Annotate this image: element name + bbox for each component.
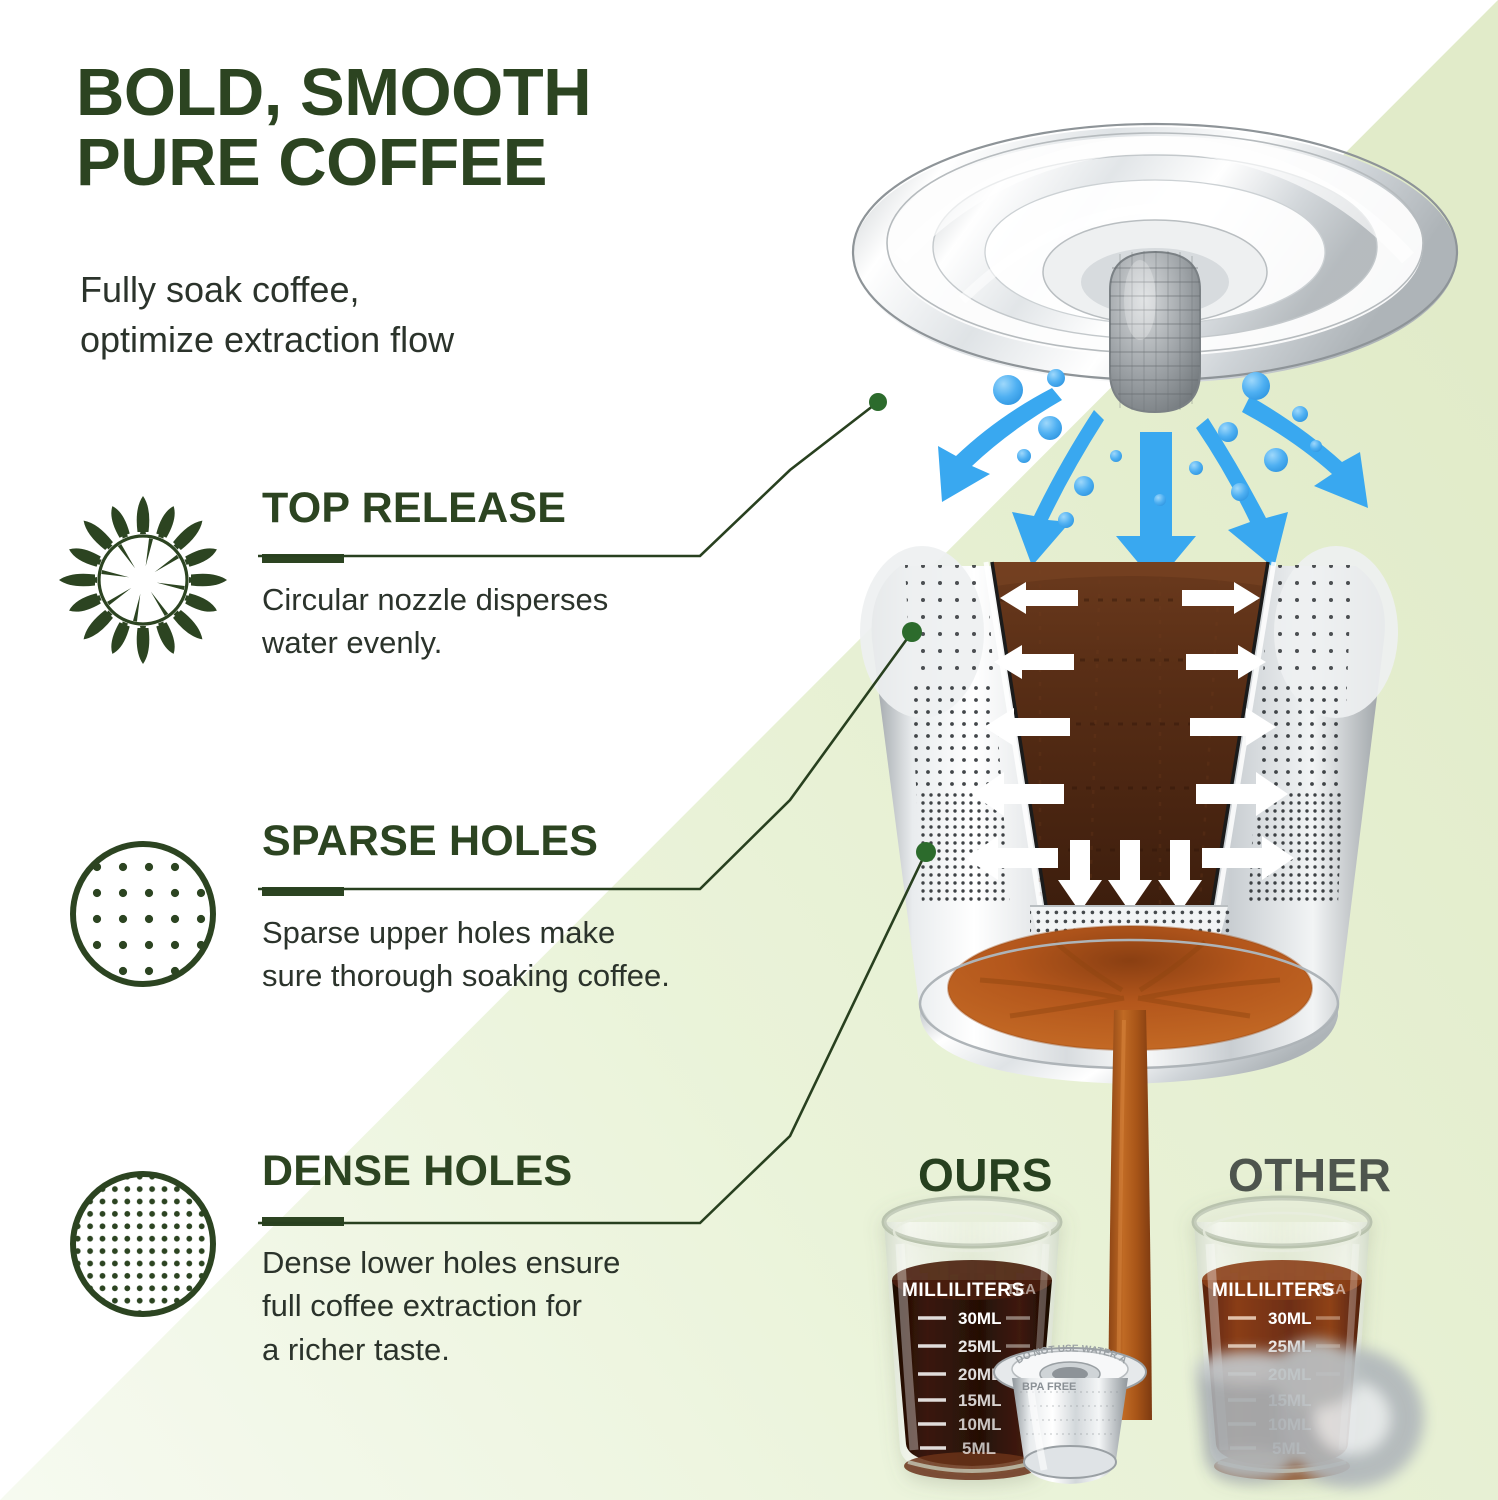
comparison-label-other: OTHER bbox=[1228, 1148, 1392, 1202]
feature-title: TOP RELEASE bbox=[262, 487, 822, 530]
feature-description: Dense lower holes ensure full coffee ext… bbox=[262, 1241, 822, 1371]
subheadline-line-2: optimize extraction flow bbox=[80, 315, 780, 365]
feature-divider-accent bbox=[262, 1217, 344, 1226]
headline-line-1: BOLD, SMOOTH bbox=[76, 58, 836, 128]
subheadline-line-1: Fully soak coffee, bbox=[80, 265, 780, 315]
feature-divider bbox=[262, 1209, 822, 1231]
feature-description: Sparse upper holes make sure thorough so… bbox=[262, 911, 822, 998]
feature-description-line: sure thorough soaking coffee. bbox=[262, 954, 822, 997]
feature-description-line: Sparse upper holes make bbox=[262, 911, 822, 954]
headline-line-2: PURE COFFEE bbox=[76, 128, 836, 198]
feature-title: DENSE HOLES bbox=[262, 1150, 822, 1193]
feature-description-line: Dense lower holes ensure bbox=[262, 1241, 822, 1284]
feature-description: Circular nozzle disperses water evenly. bbox=[262, 578, 822, 665]
feature-description-line: Circular nozzle disperses bbox=[262, 578, 822, 621]
infographic-page: BOLD, SMOOTH PURE COFFEE Fully soak coff… bbox=[0, 0, 1498, 1500]
feature-description-line: a richer taste. bbox=[262, 1328, 822, 1371]
feature-divider bbox=[262, 879, 822, 901]
feature-description-line: full coffee extraction for bbox=[262, 1284, 822, 1327]
comparison-label-ours: OURS bbox=[918, 1148, 1053, 1202]
feature-divider-accent bbox=[262, 554, 344, 563]
feature-divider-accent bbox=[262, 887, 344, 896]
feature-description-line: water evenly. bbox=[262, 621, 822, 664]
feature-title: SPARSE HOLES bbox=[262, 820, 822, 863]
feature-divider bbox=[262, 546, 822, 568]
sunburst-nozzle-icon bbox=[58, 493, 228, 668]
sparse-holes-icon bbox=[58, 826, 228, 1001]
dense-holes-icon bbox=[58, 1156, 228, 1331]
page-subheadline: Fully soak coffee, optimize extraction f… bbox=[80, 265, 780, 364]
page-headline: BOLD, SMOOTH PURE COFFEE bbox=[76, 58, 836, 197]
